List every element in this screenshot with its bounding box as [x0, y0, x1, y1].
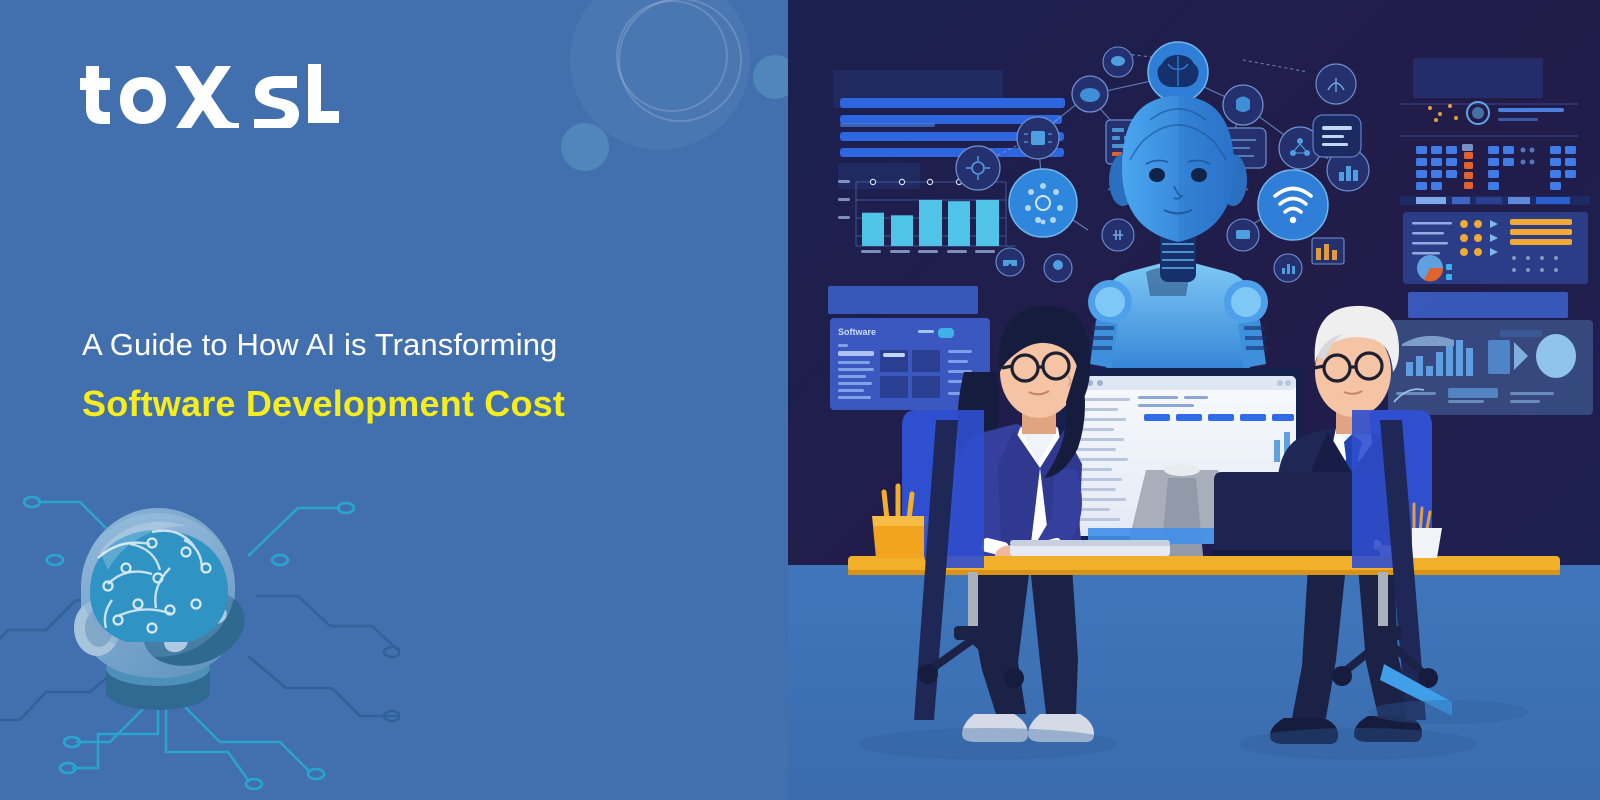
ai-office-illustration: Software	[788, 0, 1600, 800]
stats-node	[1274, 254, 1302, 282]
right-lower-panel	[1403, 212, 1588, 284]
software-panel-label: Software	[838, 327, 876, 337]
chip-node	[1017, 117, 1059, 159]
chat-node	[1103, 47, 1133, 77]
gear-node	[1009, 169, 1077, 237]
card-node	[1313, 115, 1361, 157]
robot-eye-right	[1191, 168, 1207, 182]
monitor-node	[1227, 219, 1259, 251]
headline-line-1: A Guide to How AI is Transforming	[82, 326, 722, 365]
settings-node	[956, 146, 1000, 190]
vr-node	[996, 248, 1024, 276]
link-node	[1102, 219, 1134, 251]
status-strip	[1400, 196, 1590, 205]
factory-node	[1312, 238, 1344, 264]
blog-banner: A Guide to How AI is Transforming Softwa…	[0, 0, 1600, 800]
left-content-panel: A Guide to How AI is Transforming Softwa…	[0, 0, 788, 800]
orange-bars	[1510, 219, 1572, 245]
data-node	[1316, 64, 1356, 104]
floor	[788, 565, 1600, 800]
illustration-panel: Software	[788, 0, 1600, 800]
ai-robot-head-graphic	[0, 480, 400, 800]
robot-eye-left	[1149, 168, 1165, 182]
bulb-node	[1044, 254, 1072, 282]
keyboard	[1010, 540, 1170, 556]
analytics-panel	[1388, 320, 1593, 415]
brain-node	[1148, 42, 1208, 102]
page-title: A Guide to How AI is Transforming Softwa…	[82, 326, 722, 426]
cloud-node	[1072, 76, 1108, 112]
robot-small-node	[1223, 85, 1263, 125]
decorative-dot-right	[753, 55, 788, 99]
decorative-ring-inner	[616, 0, 728, 112]
toxsl-logo[interactable]	[80, 48, 340, 128]
headline-line-2: Software Development Cost	[82, 381, 722, 426]
decorative-dot-left	[561, 123, 609, 171]
wifi-node	[1258, 170, 1328, 240]
